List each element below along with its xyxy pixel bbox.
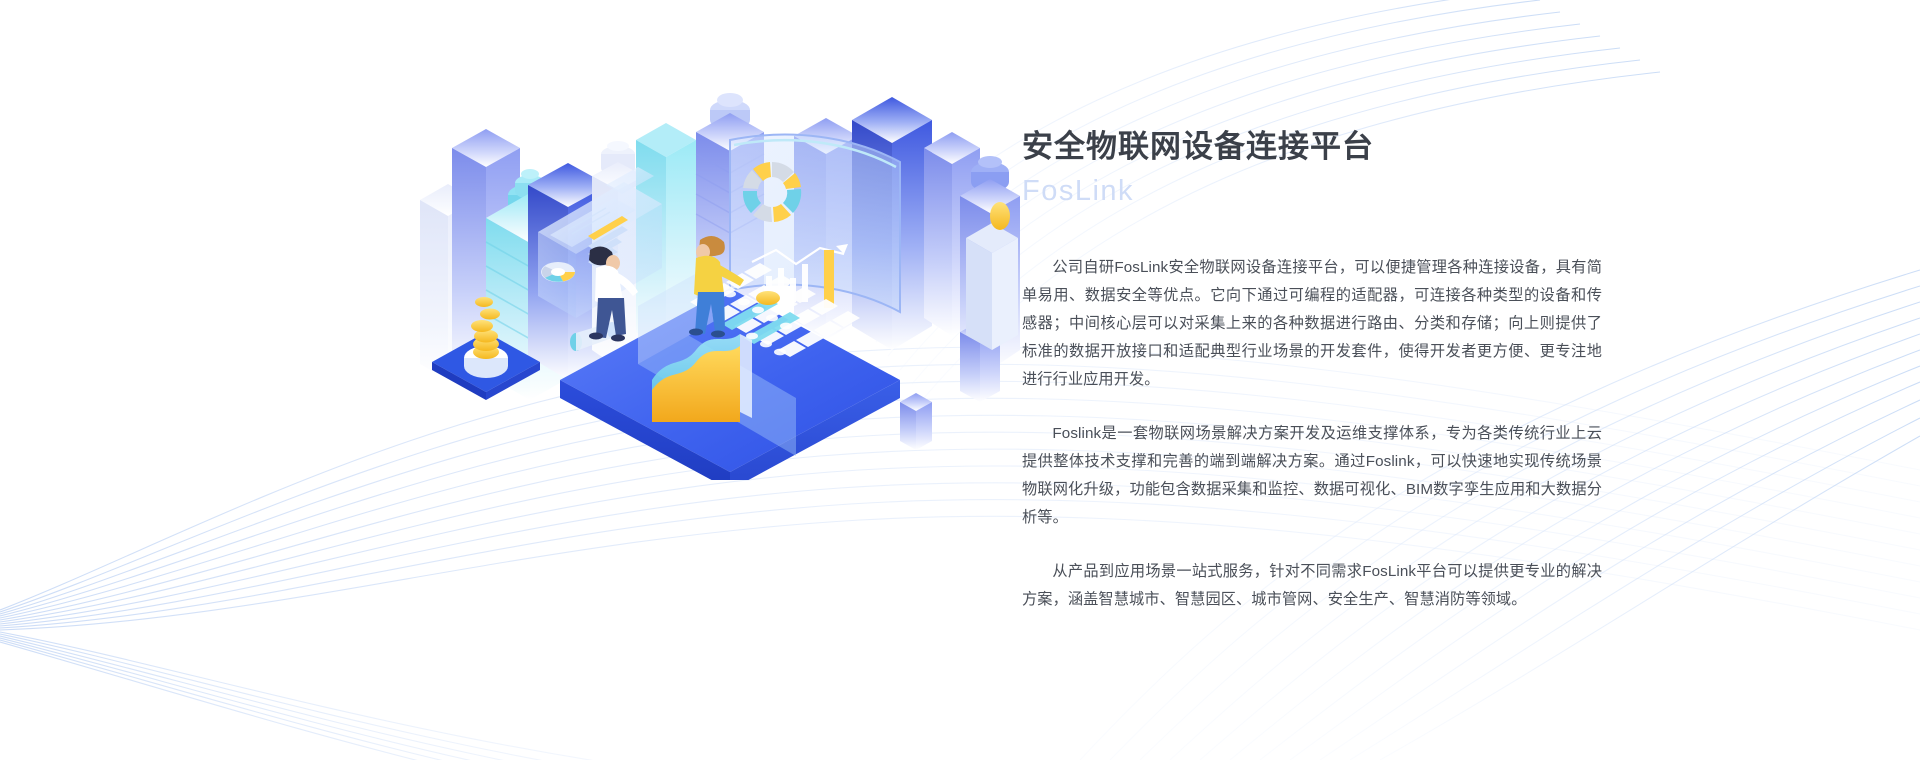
gold-token-icon xyxy=(756,291,780,305)
page-title: 安全物联网设备连接平台 xyxy=(1022,128,1602,167)
text-content-column: 安全物联网设备连接平台 FosLink 公司自研FosLink安全物联网设备连接… xyxy=(1022,128,1602,614)
paragraph-2: Foslink是一套物联网场景解决方案开发及运维支撑体系，专为各类传统行业上云提… xyxy=(1022,420,1602,532)
page-root: 安全物联网设备连接平台 FosLink 公司自研FosLink安全物联网设备连接… xyxy=(0,0,1920,760)
paragraph-1: 公司自研FosLink安全物联网设备连接平台，可以便捷管理各种连接设备，具有简单… xyxy=(1022,254,1602,394)
screen-donut-chart xyxy=(742,162,802,222)
isometric-illustration xyxy=(400,50,1040,480)
gold-coin-icon xyxy=(990,202,1010,230)
building-small-2 xyxy=(900,393,932,450)
curved-display-screen xyxy=(730,135,900,312)
page-subtitle: FosLink xyxy=(1022,173,1602,211)
mini-donut-chart xyxy=(541,262,575,282)
paragraph-3: 从产品到应用场景一站式服务，针对不同需求FosLink平台可以提供更专业的解决方… xyxy=(1022,558,1602,614)
description-body: 公司自研FosLink安全物联网设备连接平台，可以便捷管理各种连接设备，具有简单… xyxy=(1022,254,1602,614)
